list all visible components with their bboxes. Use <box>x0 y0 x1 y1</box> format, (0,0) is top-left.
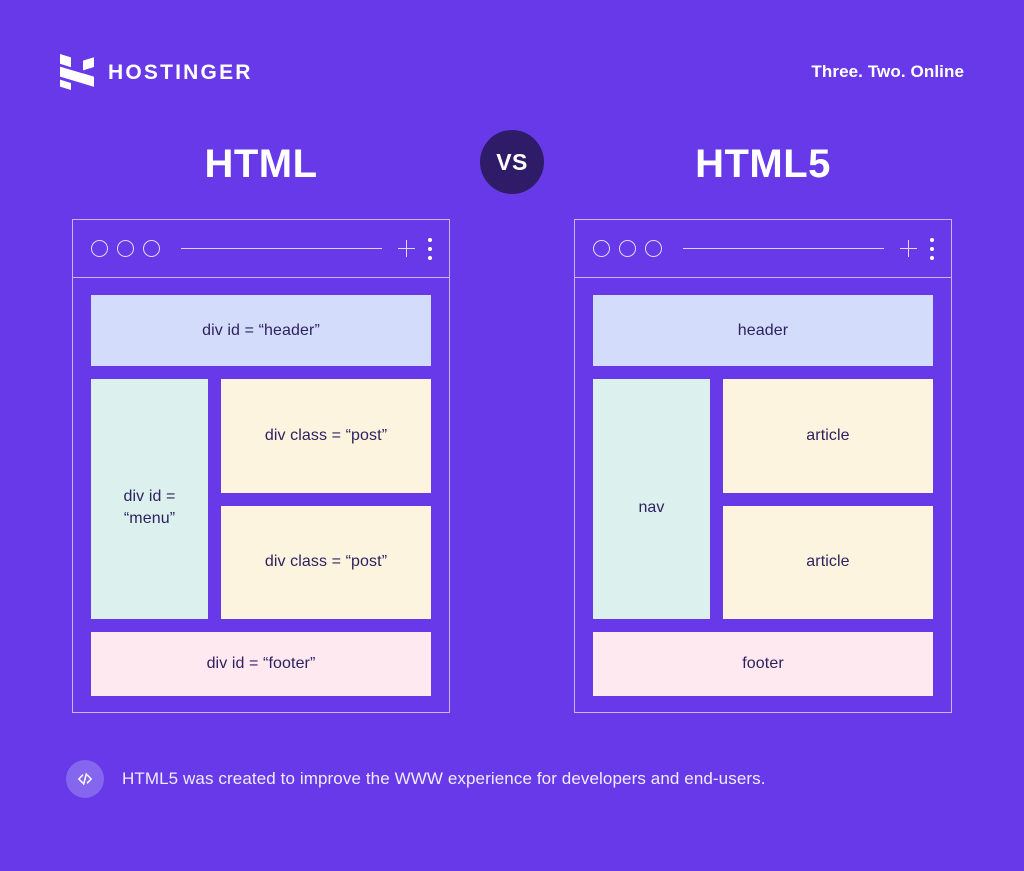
brand-name: HOSTINGER <box>108 62 253 83</box>
wireframe-html5: header nav article article footer <box>575 278 951 714</box>
browser-chrome-html <box>73 220 449 278</box>
articles-stack-html5: article article <box>723 379 933 619</box>
middle-row-html5: nav article article <box>593 379 933 619</box>
footnote-text: HTML5 was created to improve the WWW exp… <box>122 769 766 789</box>
headings-row: HTML VS HTML5 <box>0 136 1024 196</box>
plus-icon[interactable] <box>398 240 415 257</box>
window-dot-2-icon[interactable] <box>619 240 636 257</box>
block-article-2-html5: article <box>723 506 933 620</box>
block-menu-label: div id =“menu” <box>124 486 176 529</box>
block-post-2-html: div class = “post” <box>221 506 431 620</box>
block-header-html5: header <box>593 295 933 366</box>
hostinger-h-logo-icon <box>60 54 94 90</box>
browser-chrome-html5 <box>575 220 951 278</box>
block-menu-html: div id =“menu” <box>91 379 208 619</box>
block-article-1-html5: article <box>723 379 933 493</box>
window-dot-1-icon[interactable] <box>91 240 108 257</box>
window-dot-3-icon[interactable] <box>143 240 160 257</box>
middle-row-html: div id =“menu” div class = “post” div cl… <box>91 379 431 619</box>
browser-window-html: div id = “header” div id =“menu” div cla… <box>72 219 450 713</box>
page-title-html: HTML <box>72 136 450 192</box>
wireframe-html: div id = “header” div id =“menu” div cla… <box>73 278 449 714</box>
footnote: HTML5 was created to improve the WWW exp… <box>66 760 766 798</box>
page-title-html5: HTML5 <box>574 136 952 192</box>
block-nav-html5: nav <box>593 379 710 619</box>
plus-icon[interactable] <box>900 240 917 257</box>
versus-badge: VS <box>480 130 544 194</box>
address-bar[interactable] <box>181 248 382 250</box>
brand-logo[interactable]: HOSTINGER <box>60 54 253 90</box>
block-nav-label: nav <box>638 497 664 519</box>
tagline: Three. Two. Online <box>811 62 964 82</box>
window-dot-1-icon[interactable] <box>593 240 610 257</box>
top-bar: HOSTINGER Three. Two. Online <box>60 52 964 92</box>
browser-window-html5: header nav article article footer <box>574 219 952 713</box>
kebab-menu-icon[interactable] <box>930 238 934 260</box>
code-glyph <box>75 769 95 789</box>
window-dot-3-icon[interactable] <box>645 240 662 257</box>
window-dot-2-icon[interactable] <box>117 240 134 257</box>
articles-stack-html: div class = “post” div class = “post” <box>221 379 431 619</box>
block-post-1-html: div class = “post” <box>221 379 431 493</box>
address-bar[interactable] <box>683 248 884 250</box>
code-brackets-icon <box>66 760 104 798</box>
block-header-html: div id = “header” <box>91 295 431 366</box>
block-footer-html: div id = “footer” <box>91 632 431 696</box>
block-footer-html5: footer <box>593 632 933 696</box>
kebab-menu-icon[interactable] <box>428 238 432 260</box>
